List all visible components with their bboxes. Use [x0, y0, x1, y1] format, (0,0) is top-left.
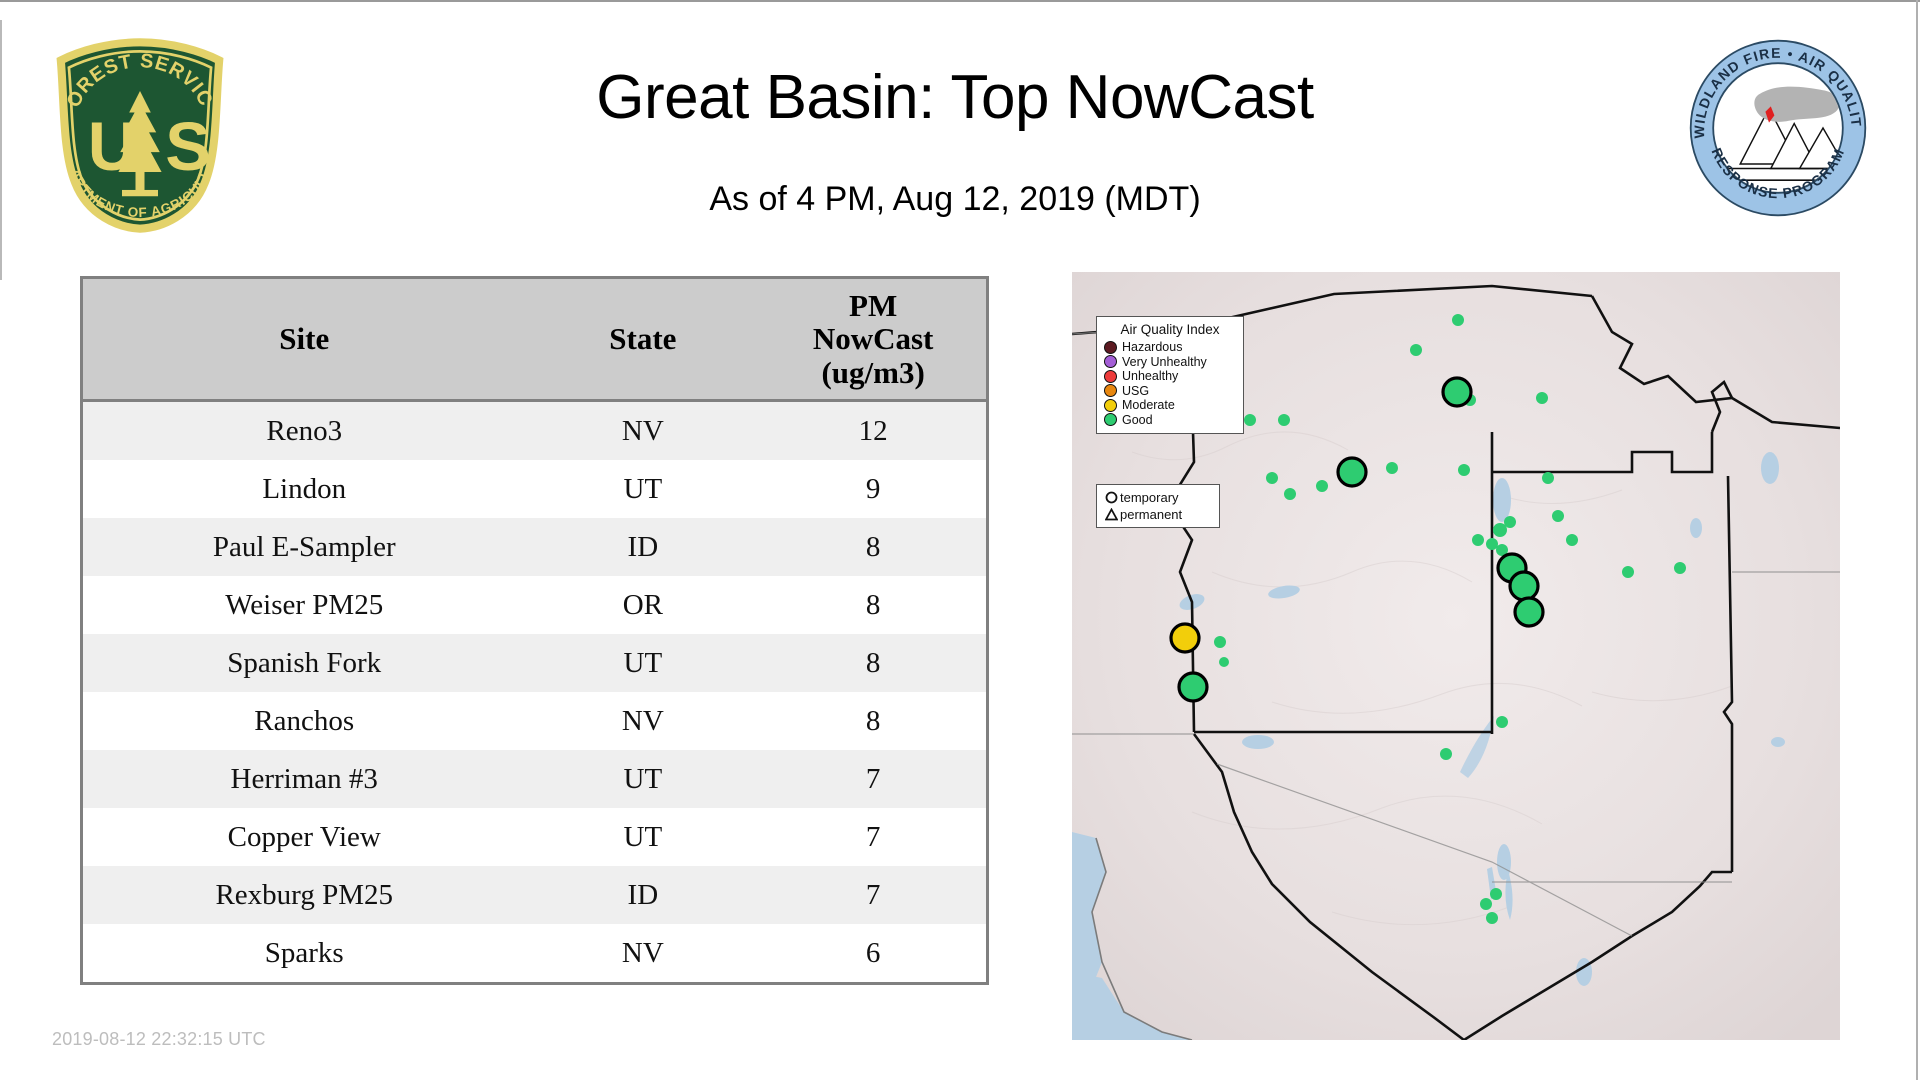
cell-state: UT: [525, 750, 760, 808]
cell-pm: 12: [760, 401, 986, 461]
legend-item-good: Good: [1104, 413, 1236, 428]
cell-pm: 8: [760, 576, 986, 634]
table-row: SparksNV6: [83, 924, 986, 982]
cell-site: Ranchos: [83, 692, 525, 750]
map-marker-good: [1179, 673, 1207, 701]
legend-swatch-icon: [1104, 384, 1117, 397]
legend-site-type: temporary permanent: [1096, 484, 1220, 528]
cell-state: UT: [525, 460, 760, 518]
map-marker-good: [1510, 572, 1538, 600]
cell-site: Sparks: [83, 924, 525, 982]
cell-pm: 8: [760, 634, 986, 692]
page-subtitle: As of 4 PM, Aug 12, 2019 (MDT): [380, 180, 1530, 219]
cell-state: OR: [525, 576, 760, 634]
cell-state: NV: [525, 692, 760, 750]
cell-site: Herriman #3: [83, 750, 525, 808]
pm-header-line1: PM: [760, 289, 986, 322]
page-border-left: [0, 20, 2, 280]
legend-label: USG: [1122, 384, 1149, 399]
pm-header-line2: NowCast: [760, 322, 986, 355]
table-row: Herriman #3UT7: [83, 750, 986, 808]
column-header-state: State: [525, 279, 760, 401]
cell-pm: 7: [760, 750, 986, 808]
cell-state: ID: [525, 518, 760, 576]
usda-forest-service-shield-logo: FOREST SERVICE U S DEPARTMENT OF AGRICUL…: [50, 38, 230, 233]
legend-title: Air Quality Index: [1104, 322, 1236, 337]
table-row: RanchosNV8: [83, 692, 986, 750]
cell-pm: 6: [760, 924, 986, 982]
cell-pm: 8: [760, 692, 986, 750]
page-border-top: [0, 0, 1920, 2]
column-header-site: Site: [83, 279, 525, 401]
legend-item-unhealthy: Unhealthy: [1104, 369, 1236, 384]
table-row: Spanish ForkUT8: [83, 634, 986, 692]
table-row: Weiser PM25OR8: [83, 576, 986, 634]
cell-site: Spanish Fork: [83, 634, 525, 692]
cell-site: Weiser PM25: [83, 576, 525, 634]
page-border-right: [1916, 0, 1918, 1080]
legend-label: Moderate: [1122, 398, 1175, 413]
cell-site: Reno3: [83, 401, 525, 461]
cell-state: NV: [525, 401, 760, 461]
pm-header-line3: (ug/m3): [760, 356, 986, 389]
air-quality-map[interactable]: Air Quality Index HazardousVery Unhealth…: [1072, 272, 1840, 1040]
circle-icon: [1103, 491, 1120, 504]
cell-pm: 7: [760, 866, 986, 924]
table-row: Reno3NV12: [83, 401, 986, 461]
legend-swatch-icon: [1104, 413, 1117, 426]
table-header-row: Site State PM NowCast (ug/m3): [83, 279, 986, 401]
legend-swatch-icon: [1104, 399, 1117, 412]
cell-state: UT: [525, 808, 760, 866]
map-marker-moderate: [1171, 624, 1199, 652]
cell-state: UT: [525, 634, 760, 692]
cell-site: Paul E-Sampler: [83, 518, 525, 576]
cell-pm: 8: [760, 518, 986, 576]
legend-label: Good: [1122, 413, 1153, 428]
cell-pm: 7: [760, 808, 986, 866]
legend-label: Hazardous: [1122, 340, 1182, 355]
legend-label-permanent: permanent: [1120, 506, 1182, 523]
legend-swatch-icon: [1104, 355, 1117, 368]
column-header-pm-nowcast: PM NowCast (ug/m3): [760, 279, 986, 401]
table-row: Copper ViewUT7: [83, 808, 986, 866]
legend-label: Unhealthy: [1122, 369, 1178, 384]
table-row: Paul E-SamplerID8: [83, 518, 986, 576]
legend-item-temporary: temporary: [1103, 489, 1213, 506]
legend-label-temporary: temporary: [1120, 489, 1179, 506]
generated-timestamp: 2019-08-12 22:32:15 UTC: [52, 1029, 266, 1050]
legend-swatch-icon: [1104, 370, 1117, 383]
legend-item-moderate: Moderate: [1104, 398, 1236, 413]
legend-air-quality-index: Air Quality Index HazardousVery Unhealth…: [1096, 316, 1244, 434]
legend-item-hazardous: Hazardous: [1104, 340, 1236, 355]
top-nowcast-table: Site State PM NowCast (ug/m3) Reno3NV12L…: [80, 276, 989, 985]
legend-item-very-unhealthy: Very Unhealthy: [1104, 355, 1236, 370]
map-marker-good: [1515, 598, 1543, 626]
wfaqrp-logo: WILDLAND FIRE • AIR QUALITY RESPONSE PRO…: [1688, 38, 1868, 218]
triangle-icon: [1103, 508, 1120, 521]
legend-swatch-icon: [1104, 341, 1117, 354]
legend-label: Very Unhealthy: [1122, 355, 1207, 370]
table-row: Rexburg PM25ID7: [83, 866, 986, 924]
page-title: Great Basin: Top NowCast: [380, 62, 1530, 133]
cell-pm: 9: [760, 460, 986, 518]
table-row: LindonUT9: [83, 460, 986, 518]
cell-site: Lindon: [83, 460, 525, 518]
map-marker-good: [1443, 378, 1471, 406]
legend-item-usg: USG: [1104, 384, 1236, 399]
cell-site: Copper View: [83, 808, 525, 866]
map-marker-good: [1338, 458, 1366, 486]
cell-site: Rexburg PM25: [83, 866, 525, 924]
legend-item-permanent: permanent: [1103, 506, 1213, 523]
cell-state: ID: [525, 866, 760, 924]
cell-state: NV: [525, 924, 760, 982]
